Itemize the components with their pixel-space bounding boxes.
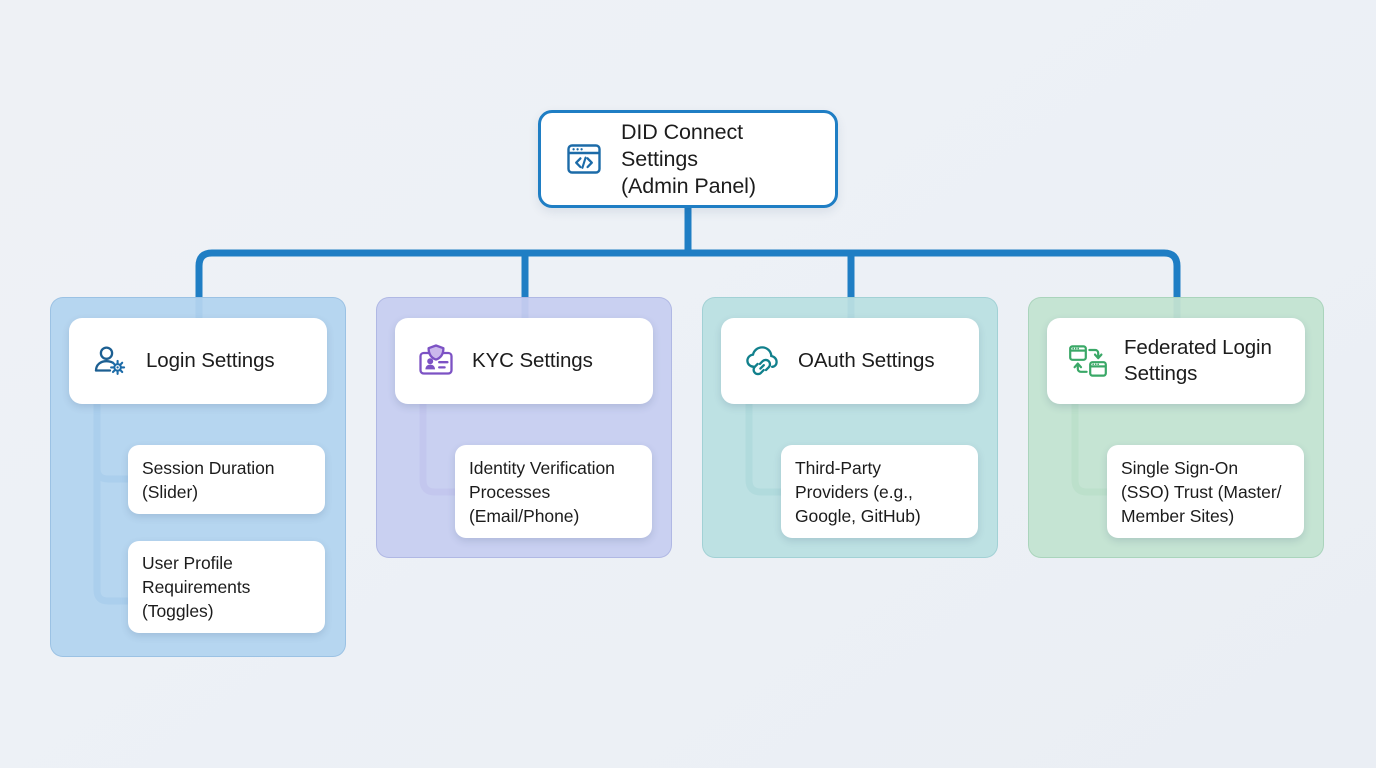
- leaf-card-user-profile-requirements[interactable]: User Profile Requirements (Toggles): [128, 541, 325, 633]
- diagram-canvas: DID Connect Settings (Admin Panel) Login…: [0, 0, 1376, 768]
- leaf-card-single-sign-on-trust[interactable]: Single Sign-On (SSO) Trust (Master/ Memb…: [1107, 445, 1304, 538]
- branch-card-login-settings[interactable]: Login Settings: [69, 318, 327, 404]
- cloud-link-icon: [741, 340, 783, 382]
- leaf-card-label: Session Duration (Slider): [142, 456, 274, 504]
- id-card-shield-icon: [415, 340, 457, 382]
- leaf-card-label: Third-Party Providers (e.g., Google, Git…: [795, 456, 921, 528]
- branch-title: OAuth Settings: [798, 348, 935, 374]
- leaf-card-third-party-providers[interactable]: Third-Party Providers (e.g., Google, Git…: [781, 445, 978, 538]
- browser-code-icon: [563, 138, 605, 180]
- leaf-card-label: User Profile Requirements (Toggles): [142, 551, 250, 623]
- branch-card-kyc-settings[interactable]: KYC Settings: [395, 318, 653, 404]
- branch-title: KYC Settings: [472, 348, 593, 374]
- branch-title: Login Settings: [146, 348, 275, 374]
- root-node-did-connect-settings[interactable]: DID Connect Settings (Admin Panel): [538, 110, 838, 208]
- federated-windows-sync-icon: [1067, 340, 1109, 382]
- user-gear-icon: [89, 340, 131, 382]
- root-node-title: DID Connect Settings (Admin Panel): [621, 119, 815, 200]
- leaf-card-label: Identity Verification Processes (Email/P…: [469, 456, 615, 528]
- branch-card-oauth-settings[interactable]: OAuth Settings: [721, 318, 979, 404]
- leaf-card-label: Single Sign-On (SSO) Trust (Master/ Memb…: [1121, 456, 1281, 528]
- leaf-card-identity-verification-processes[interactable]: Identity Verification Processes (Email/P…: [455, 445, 652, 538]
- branch-title: Federated Login Settings: [1124, 335, 1272, 387]
- branch-card-federated-login-settings[interactable]: Federated Login Settings: [1047, 318, 1305, 404]
- leaf-card-session-duration[interactable]: Session Duration (Slider): [128, 445, 325, 514]
